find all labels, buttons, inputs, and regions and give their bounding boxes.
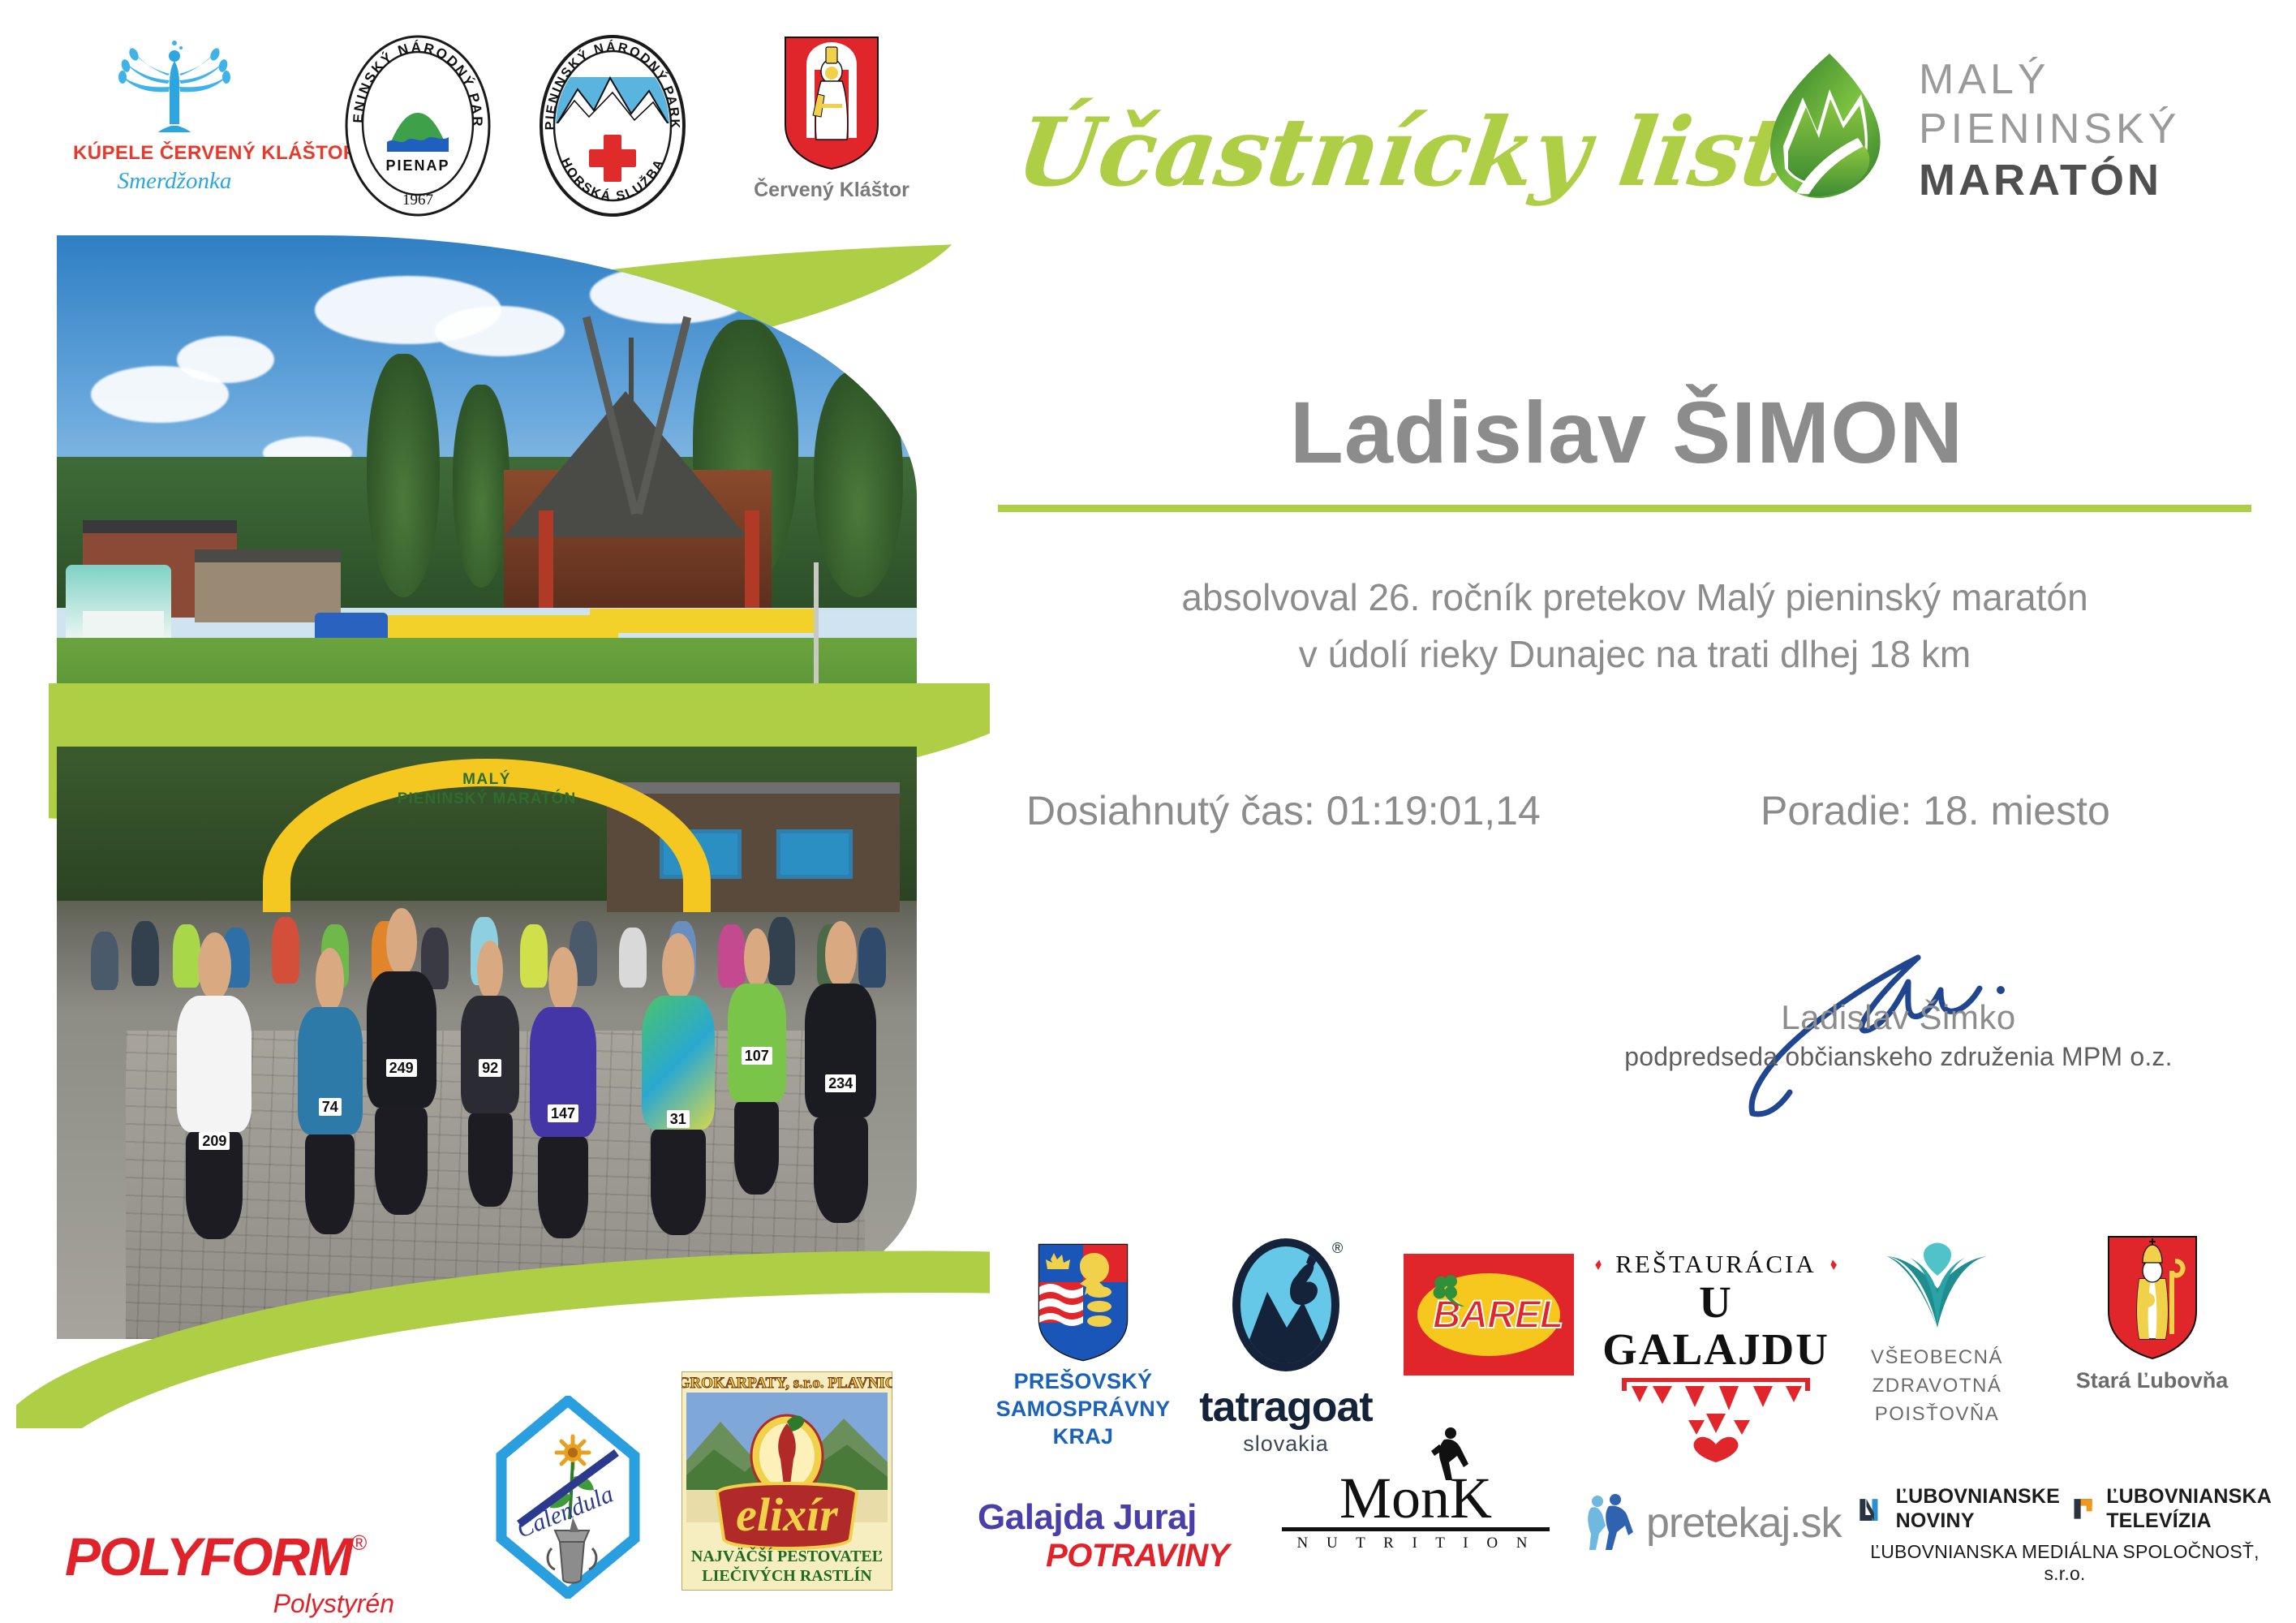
mpm-line1: MALÝ bbox=[1919, 55, 2268, 105]
logo-pretekaj-sk: pretekaj.sk bbox=[1586, 1493, 1854, 1553]
logo-monk-nutrition: MonK N U T R I T I O N bbox=[1282, 1469, 1550, 1552]
arch-line1: MALÝ bbox=[332, 770, 642, 790]
placement: Poradie: 18. miesto bbox=[1761, 787, 2110, 834]
monk-sub: N U T R I T I O N bbox=[1282, 1535, 1550, 1552]
logo-polyform: POLYFORM ® Polystyrén bbox=[65, 1526, 406, 1619]
mpm-wordmark: MALÝ PIENINSKÝ MARATÓN bbox=[1919, 55, 2268, 206]
elixir-line1: NAJVÄČŠÍ PESTOVATEĽ bbox=[691, 1546, 883, 1565]
page-title: Účastnícky list bbox=[1010, 97, 1792, 208]
bib-number: 107 bbox=[742, 1047, 772, 1065]
photo-runners-start: MALÝ PIENINSKÝ MARATÓN bbox=[57, 747, 917, 1339]
statement-line-2: v údolí rieky Dunajec na trati dlhej 18 … bbox=[1006, 629, 2264, 679]
folk-ornament-icon bbox=[1594, 1254, 1607, 1275]
leaf-mountain-icon bbox=[1752, 47, 1907, 201]
psk-label: PREŠOVSKÝ SAMOSPRÁVNY KRAJ bbox=[982, 1368, 1185, 1450]
runner: 234 bbox=[805, 984, 876, 1223]
bib-number: 209 bbox=[199, 1132, 230, 1150]
runner: 74 bbox=[298, 1007, 363, 1234]
polyform-sub: Polystyrén bbox=[65, 1589, 406, 1619]
tatragoat-sub: slovakia bbox=[1193, 1431, 1379, 1457]
lubovnianska-televizia-label: ĽUBOVNIANSKA TELEVÍZIA bbox=[2106, 1485, 2272, 1533]
monk-word: MonK bbox=[1282, 1469, 1550, 1531]
mpm-line2: PIENINSKÝ bbox=[1919, 105, 2268, 154]
water-angel-icon bbox=[73, 37, 276, 142]
bib-number: 147 bbox=[548, 1104, 578, 1122]
logo-restauracia-u-galajdu: REŠTAURÁCIA U GALAJDU bbox=[1594, 1250, 1838, 1464]
certificate-page: KÚPELE ČERVENÝ KLÁŠTOR Smerdžonka PIENIN… bbox=[0, 0, 2296, 1623]
runner: 107 bbox=[728, 984, 786, 1195]
svg-text:PIENAP: PIENAP bbox=[385, 157, 449, 174]
bib-number: 234 bbox=[825, 1074, 856, 1092]
runner: 92 bbox=[461, 996, 519, 1207]
photo-amphitheatre bbox=[57, 235, 917, 738]
logo-presovsky-samospravny-kraj: PREŠOVSKÝ SAMOSPRÁVNY KRAJ bbox=[982, 1242, 1185, 1450]
mpm-brand-logo: MALÝ PIENINSKÝ MARATÓN bbox=[1752, 47, 2272, 201]
tv-mark-icon bbox=[2071, 1488, 2095, 1530]
accent-divider bbox=[998, 505, 2251, 512]
signatory-name: Ladislav Šimko bbox=[1606, 998, 2191, 1037]
logo-elixir-agrokarpaty: AGROKARPATY, s.r.o. PLAVNICA elixír NAJV… bbox=[673, 1371, 901, 1607]
runner: 209 bbox=[177, 996, 252, 1239]
folk-ornament-icon bbox=[1825, 1254, 1838, 1275]
runner: 249 bbox=[367, 971, 436, 1215]
bib-number: 31 bbox=[667, 1110, 690, 1128]
runner: 147 bbox=[530, 1007, 596, 1238]
runner: 31 bbox=[642, 996, 715, 1235]
ln-mark-icon bbox=[1858, 1488, 1885, 1530]
tatragoat-word: tatragoat bbox=[1193, 1383, 1379, 1431]
galajda-line1: Galajda Juraj bbox=[978, 1497, 1229, 1538]
vzp-mark-icon bbox=[1881, 1240, 1994, 1337]
two-runners-icon bbox=[1586, 1493, 1635, 1553]
photo-collage: MALÝ PIENINSKÝ MARATÓN bbox=[0, 187, 965, 1396]
logo-vseobecna-zdravotna-poistovna: VŠEOBECNÁ ZDRAVOTNÁ POISŤOVŇA bbox=[1850, 1240, 2024, 1428]
media-company-footer: ĽUBOVNIANSKA MEDIÁLNA SPOLOČNOSŤ, s.r.o. bbox=[1858, 1541, 2272, 1585]
elixir-top-text: AGROKARPATY, s.r.o. PLAVNICA bbox=[681, 1375, 892, 1392]
achieved-time: Dosiahnutý čas: 01:19:01,14 bbox=[1026, 787, 1541, 834]
galajda-line2: POTRAVINY bbox=[978, 1538, 1229, 1574]
stara-lubovna-label: Stará Ľubovňa bbox=[2065, 1368, 2239, 1393]
running-figure-icon bbox=[1430, 1427, 1473, 1483]
polyform-mark: ® bbox=[351, 1530, 367, 1556]
lubovnianske-noviny-label: ĽUBOVNIANSKE NOVINY bbox=[1896, 1485, 2060, 1533]
logo-barel: BAREL bbox=[1404, 1254, 1582, 1375]
logo-cerveny-klastor: Červený Kláštor bbox=[746, 34, 917, 202]
logo-lubovnianska-medialna-spolocnost: ĽUBOVNIANSKE NOVINY ĽUBOVNIANSKA TELEVÍZ… bbox=[1858, 1485, 2272, 1585]
signatory-role: podpredseda občianskeho združenia MPM o.… bbox=[1606, 1042, 2191, 1072]
arch-label: MALÝ PIENINSKÝ MARATÓN bbox=[332, 770, 642, 809]
participant-name: Ladislav ŠIMON bbox=[1018, 381, 2235, 483]
logo-galajda-juraj-potraviny: Galajda Juraj POTRAVINY bbox=[978, 1497, 1229, 1574]
logo-calendula: Calendula bbox=[487, 1396, 649, 1615]
logo-stara-lubovna: Stará Ľubovňa bbox=[2065, 1233, 2239, 1393]
galajdu-line1: REŠTAURÁCIA bbox=[1615, 1250, 1817, 1279]
mpm-line3: MARATÓN bbox=[1919, 155, 2268, 207]
vzp-label: VŠEOBECNÁ ZDRAVOTNÁ POISŤOVŇA bbox=[1850, 1344, 2024, 1428]
polyform-word: POLYFORM bbox=[65, 1526, 351, 1587]
elixir-word: elixír bbox=[736, 1488, 838, 1541]
bib-number: 249 bbox=[386, 1059, 417, 1077]
pretekaj-word: pretekaj.sk bbox=[1646, 1499, 1841, 1548]
elixir-line2: LIEČIVÝCH RASTLÍN bbox=[702, 1565, 872, 1585]
svg-text:®: ® bbox=[1332, 1240, 1343, 1256]
statement-line-1: absolvoval 26. ročník pretekov Malý pien… bbox=[1006, 572, 2264, 622]
logo-tatragoat: ® tatragoat slovakia bbox=[1193, 1233, 1379, 1457]
bib-number: 92 bbox=[479, 1059, 501, 1077]
galajdu-line2: U GALAJDU bbox=[1594, 1279, 1838, 1373]
folk-pattern-icon bbox=[1610, 1375, 1821, 1464]
signature-block: Ladislav Šimko podpredseda občianskeho z… bbox=[1606, 998, 2191, 1072]
arch-line2: PIENINSKÝ MARATÓN bbox=[332, 790, 642, 809]
kupele-line1: KÚPELE ČERVENÝ KLÁŠTOR bbox=[73, 142, 276, 165]
logo-kupele-cerveny-klastor: KÚPELE ČERVENÝ KLÁŠTOR Smerdžonka bbox=[73, 37, 276, 195]
bib-number: 74 bbox=[319, 1098, 342, 1116]
